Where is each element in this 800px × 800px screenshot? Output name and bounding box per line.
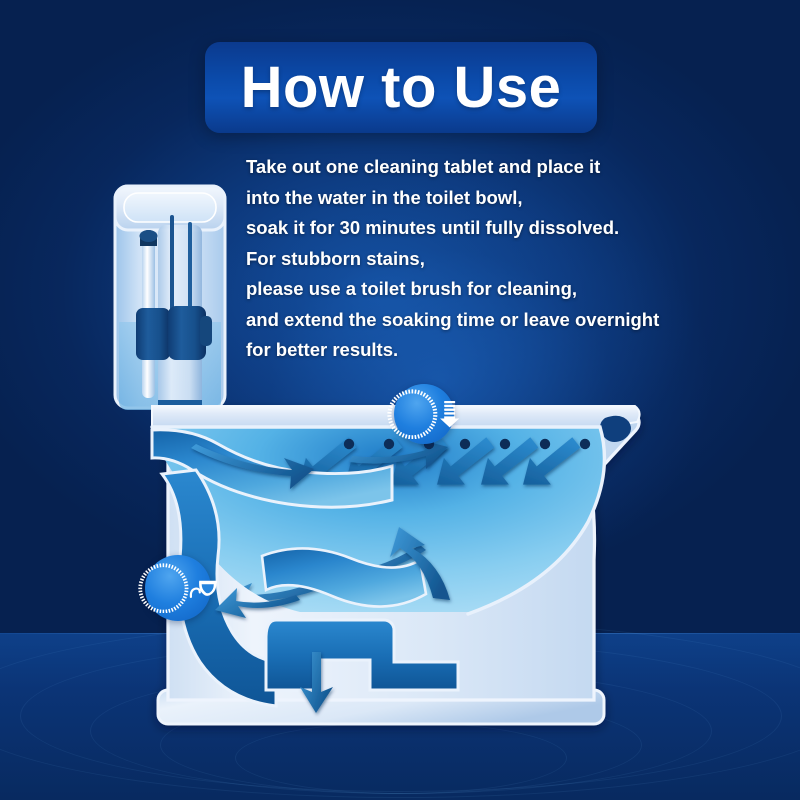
instruction-line: soak it for 30 minutes until fully disso… [246,213,716,244]
instruction-line: For stubborn stains, [246,244,716,275]
badge-tick-ring [138,563,189,614]
toilet-bowl-badge[interactable] [138,548,218,628]
instruction-line: into the water in the toilet bowl, [246,183,716,214]
instruction-line: and extend the soaking time or leave ove… [246,305,716,336]
tablet-drop-badge[interactable] [387,377,461,451]
page-title: How to Use [241,59,562,117]
title-badge: How to Use [205,42,597,133]
instructions-block: Take out one cleaning tablet and place i… [246,152,716,366]
float-cup [136,308,170,360]
toilet-tank [115,186,225,420]
instruction-line: please use a toilet brush for cleaning, [246,274,716,305]
poster-canvas: How to Use Take out one cleaning tablet … [0,0,800,800]
instruction-line: for better results. [246,335,716,366]
toilet-bowl-icon [189,571,218,605]
badge-tick-ring [387,389,438,440]
download-arrow-icon [438,394,461,434]
instruction-line: Take out one cleaning tablet and place i… [246,152,716,183]
